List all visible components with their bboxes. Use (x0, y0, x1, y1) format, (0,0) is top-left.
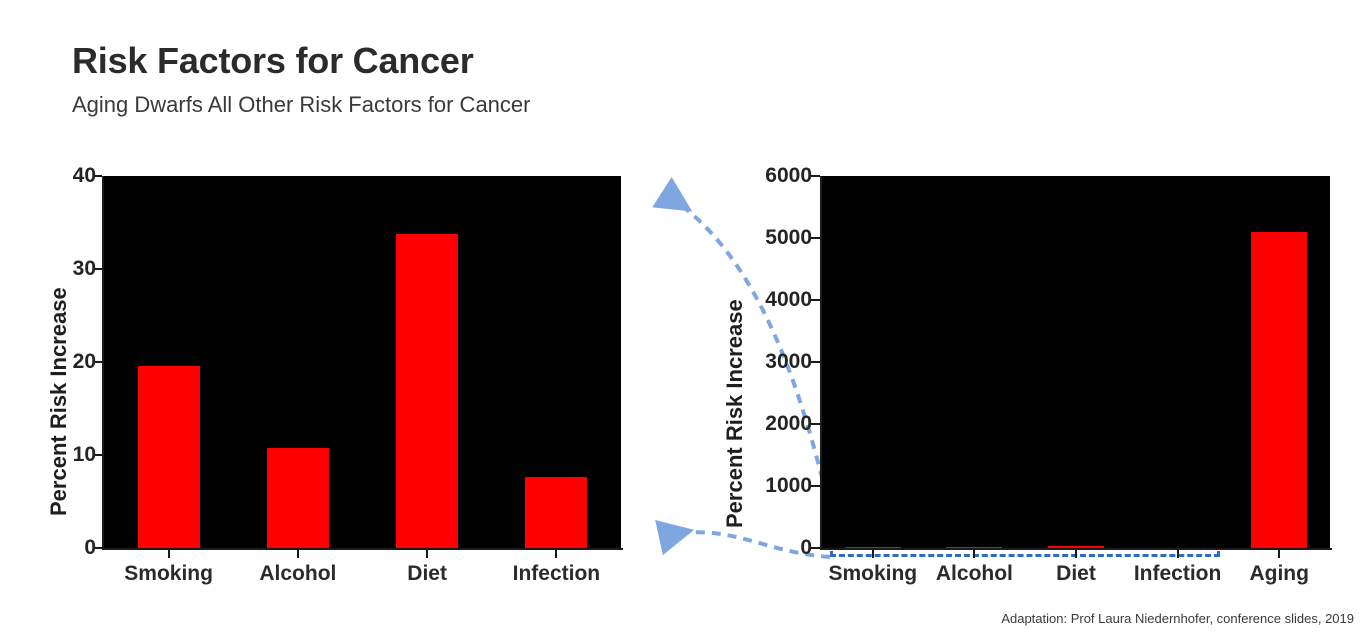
x-axis-label-right-smoking: Smoking (828, 562, 917, 586)
x-axis-label-right-alcohol: Alcohol (936, 562, 1013, 586)
x-axis-label-right-infection: Infection (1134, 562, 1222, 586)
y-tick-label-left: 20 (73, 350, 96, 374)
bar-left-diet (396, 234, 458, 548)
x-axis-label-right-diet: Diet (1056, 562, 1096, 586)
y-tick-label-right: 6000 (765, 164, 812, 188)
slide-root: Risk Factors for Cancer Aging Dwarfs All… (0, 0, 1370, 636)
x-tick-right (1278, 550, 1280, 558)
y-tick-right (811, 547, 820, 549)
bar-right-diet (1048, 546, 1104, 548)
y-tick-right (811, 485, 820, 487)
y-tick-label-right: 3000 (765, 350, 812, 374)
bar-right-aging (1251, 232, 1307, 548)
source-credit: Adaptation: Prof Laura Niedernhofer, con… (1001, 611, 1354, 626)
y-tick-label-left: 0 (84, 536, 96, 560)
y-tick-label-right: 2000 (765, 412, 812, 436)
y-tick-right (811, 423, 820, 425)
x-axis-label-left-diet: Diet (407, 562, 447, 586)
page-subtitle: Aging Dwarfs All Other Risk Factors for … (72, 92, 530, 118)
y-axis-title-left: Percent Risk Increase (46, 287, 72, 516)
x-axis-label-left-infection: Infection (513, 562, 601, 586)
x-tick-right (973, 550, 975, 558)
y-tick-label-left: 40 (73, 164, 96, 188)
y-axis-title-right: Percent Risk Increase (722, 299, 748, 528)
y-axis-line-right (820, 176, 822, 550)
y-tick-label-left: 10 (73, 443, 96, 467)
y-tick-label-right: 0 (800, 536, 812, 560)
x-tick-right (1177, 550, 1179, 558)
page-title: Risk Factors for Cancer (72, 40, 474, 82)
bar-right-alcohol (946, 547, 1002, 548)
y-tick-label-right: 4000 (765, 288, 812, 312)
x-tick-left (168, 550, 170, 558)
x-axis-line-left (102, 548, 623, 550)
y-tick-label-right: 5000 (765, 226, 812, 250)
y-tick-right (811, 361, 820, 363)
x-tick-right (1075, 550, 1077, 558)
y-tick-right (811, 175, 820, 177)
x-tick-left (426, 550, 428, 558)
x-tick-left (555, 550, 557, 558)
x-axis-label-left-alcohol: Alcohol (259, 562, 336, 586)
x-tick-right (872, 550, 874, 558)
x-tick-left (297, 550, 299, 558)
y-tick-label-left: 30 (73, 257, 96, 281)
bar-left-smoking (138, 366, 200, 548)
bar-left-infection (525, 477, 587, 548)
x-axis-label-left-smoking: Smoking (124, 562, 213, 586)
y-tick-right (811, 299, 820, 301)
x-axis-label-right-aging: Aging (1249, 562, 1308, 586)
bar-left-alcohol (267, 448, 329, 548)
bar-right-smoking (845, 547, 901, 548)
y-tick-right (811, 237, 820, 239)
y-tick-label-right: 1000 (765, 474, 812, 498)
y-axis-line-left (102, 176, 104, 550)
